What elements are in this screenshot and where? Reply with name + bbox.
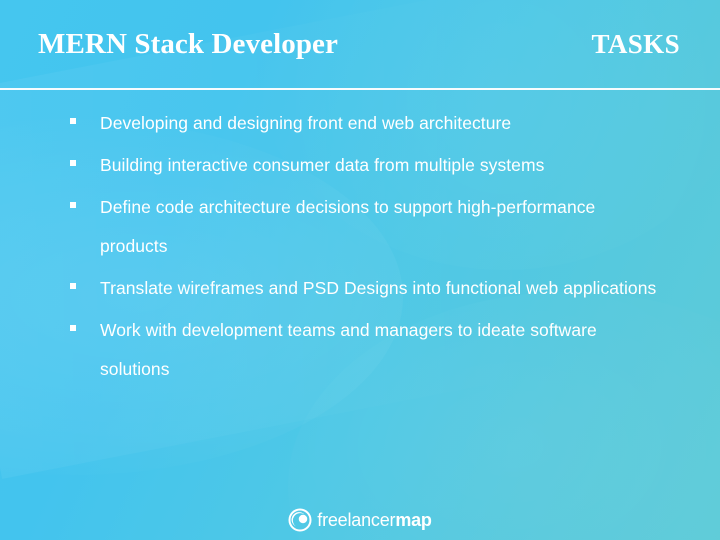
list-item: Work with development teams and managers… xyxy=(70,311,680,389)
section-label: TASKS xyxy=(591,31,680,58)
freelancermap-swirl-icon xyxy=(288,508,312,532)
slide-canvas: MERN Stack Developer TASKS Developing an… xyxy=(0,0,720,540)
list-item: Translate wireframes and PSD Designs int… xyxy=(70,269,680,308)
logo-text-map: map xyxy=(395,510,431,530)
bullet-square-icon xyxy=(70,118,76,124)
header-divider xyxy=(0,88,720,90)
list-item: Developing and designing front end web a… xyxy=(70,104,680,143)
page-title: MERN Stack Developer xyxy=(38,30,338,59)
bullet-square-icon xyxy=(70,202,76,208)
bullet-square-icon xyxy=(70,283,76,289)
bullet-square-icon xyxy=(70,325,76,331)
logo-text-freelancer: freelancer xyxy=(317,510,395,530)
list-item-label: Work with development teams and managers… xyxy=(100,311,660,389)
slide-header: MERN Stack Developer TASKS xyxy=(0,0,720,88)
list-item: Building interactive consumer data from … xyxy=(70,146,680,185)
list-item-label: Translate wireframes and PSD Designs int… xyxy=(100,269,656,308)
bullet-square-icon xyxy=(70,160,76,166)
list-item-label: Building interactive consumer data from … xyxy=(100,146,544,185)
list-item-label: Developing and designing front end web a… xyxy=(100,104,511,143)
slide-footer: freelancermap xyxy=(0,508,720,532)
freelancermap-logo: freelancermap xyxy=(288,508,431,532)
freelancermap-wordmark: freelancermap xyxy=(317,511,431,529)
list-item-label: Define code architecture decisions to su… xyxy=(100,188,660,266)
task-list: Developing and designing front end web a… xyxy=(0,104,720,392)
list-item: Define code architecture decisions to su… xyxy=(70,188,680,266)
